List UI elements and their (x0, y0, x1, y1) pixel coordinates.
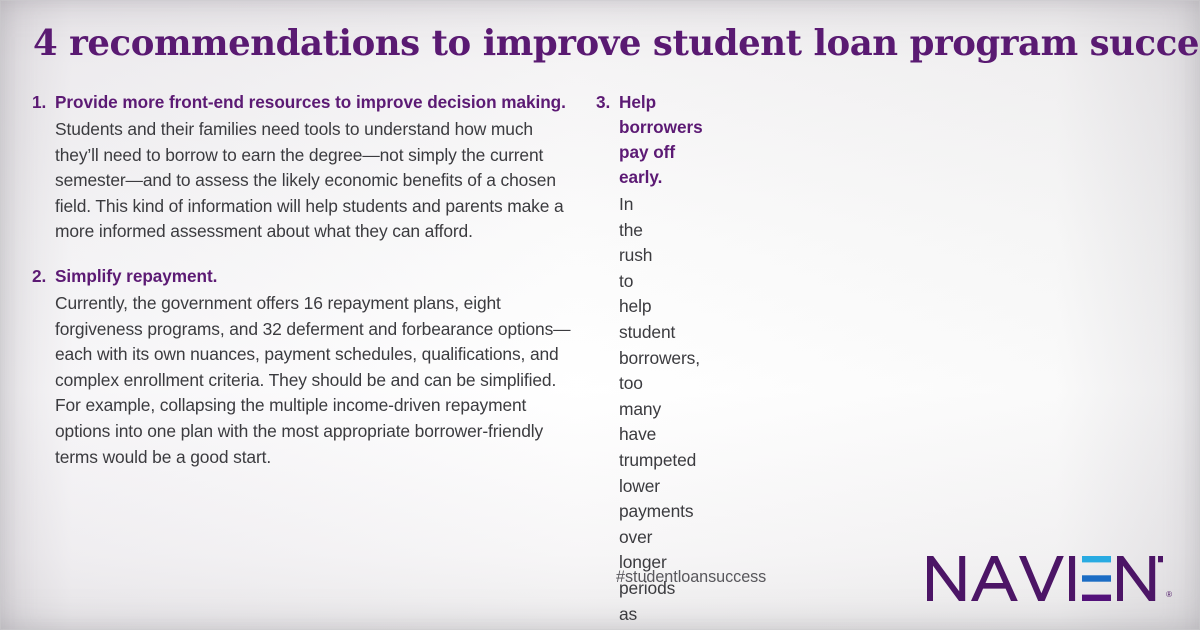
poster: 4 recommendations to improve student loa… (0, 0, 1200, 630)
recommendation-title: Help borrowers pay off early. (619, 90, 703, 190)
recommendation-number: 3. (596, 90, 619, 115)
navient-logo: ® (927, 556, 1172, 602)
right-column: 3. Help borrowers pay off early. In the … (8, 90, 636, 630)
recommendations-columns: 1. Provide more front-end resources to i… (0, 90, 1200, 630)
hashtag: #studentloansuccess (616, 568, 766, 587)
navient-wordmark-icon (927, 556, 1163, 602)
registered-trademark-icon: ® (1166, 590, 1172, 599)
page-title: 4 recommendations to improve student loa… (33, 23, 1200, 64)
